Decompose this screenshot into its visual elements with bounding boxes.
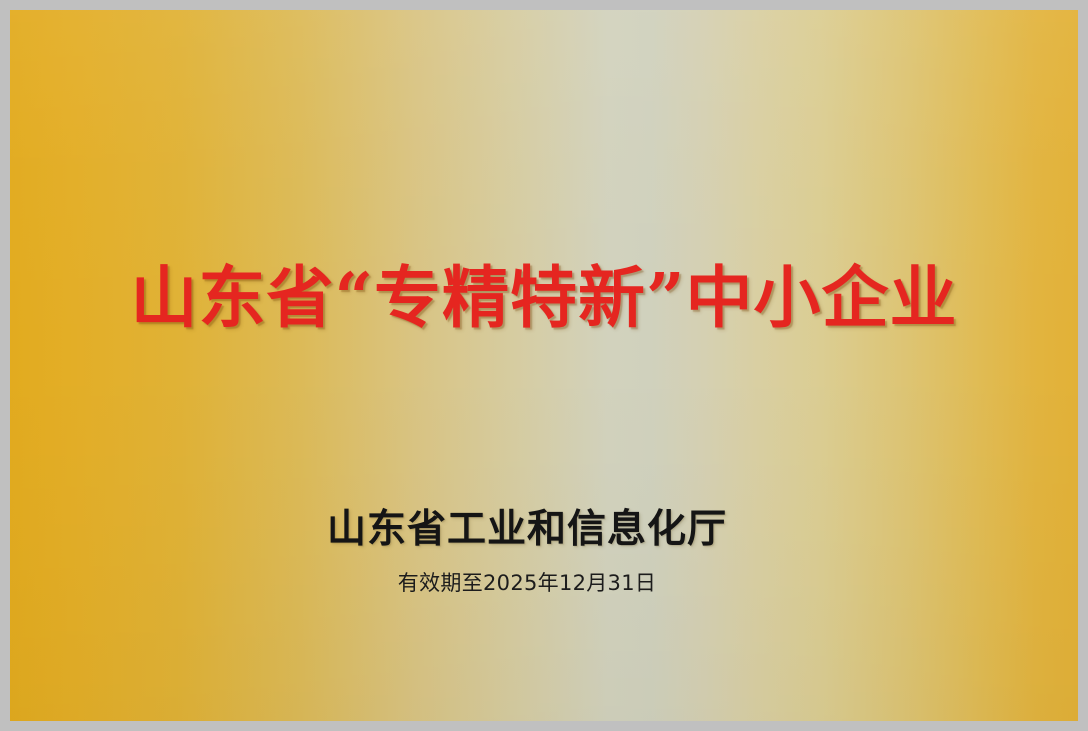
page-title: 山东省“专精特新”中小企业: [10, 257, 1078, 339]
plaque-content: 山东省“专精特新”中小企业 山东省工业和信息化厅 有效期至2025年12月31日: [10, 10, 1078, 721]
plaque-outer-frame: 山东省“专精特新”中小企业 山东省工业和信息化厅 有效期至2025年12月31日: [0, 0, 1088, 731]
plaque-plate: 山东省“专精特新”中小企业 山东省工业和信息化厅 有效期至2025年12月31日: [10, 10, 1078, 721]
issuing-authority: 山东省工业和信息化厅: [10, 503, 1078, 555]
validity-date: 有效期至2025年12月31日: [10, 568, 1078, 598]
